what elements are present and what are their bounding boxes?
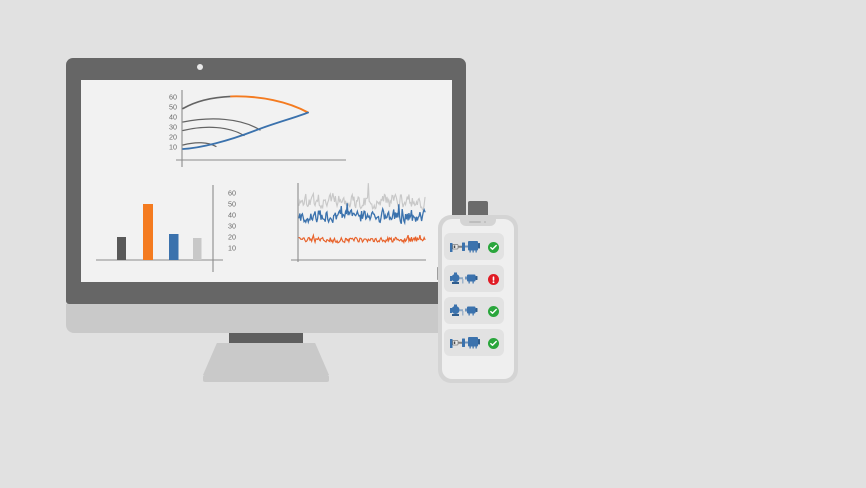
webcam-icon (197, 64, 203, 70)
check-circle-icon (488, 338, 499, 349)
bar-3 (193, 238, 202, 260)
monitor-stand-neck (229, 333, 303, 343)
status-badge (488, 274, 499, 285)
monitor-screen: 60 50 40 30 20 10 (81, 80, 452, 282)
bar-1 (143, 204, 153, 260)
pump-motor-icon (449, 270, 483, 287)
svg-text:10: 10 (228, 244, 236, 253)
check-circle-icon (488, 306, 499, 317)
mobile-device (438, 215, 518, 383)
svg-text:40: 40 (169, 113, 177, 122)
asset-card[interactable] (444, 297, 504, 324)
svg-text:10: 10 (169, 143, 177, 152)
asset-card[interactable] (444, 329, 504, 356)
status-badge (488, 338, 499, 349)
svg-text:60: 60 (169, 93, 177, 102)
svg-text:20: 20 (228, 233, 236, 242)
asset-card[interactable] (444, 265, 504, 292)
illustration-stage: 60 50 40 30 20 10 (0, 0, 866, 488)
monitor-stand-column (203, 343, 329, 375)
svg-text:50: 50 (169, 103, 177, 112)
arc-chart: 60 50 40 30 20 10 (156, 88, 371, 176)
monitor-stand-foot (203, 375, 329, 382)
asset-card[interactable] (444, 233, 504, 260)
alert-circle-icon (488, 274, 499, 285)
monitor-chin (66, 304, 466, 333)
check-circle-icon (488, 242, 499, 253)
bar-2 (169, 234, 179, 260)
bar-chart: 60 50 40 30 20 10 (91, 180, 251, 275)
status-badge (488, 306, 499, 317)
timeseries-chart (286, 180, 436, 275)
svg-text:30: 30 (228, 222, 236, 231)
phone-speaker-icon (469, 221, 481, 223)
motor-gearbox-icon (449, 238, 483, 255)
svg-text:50: 50 (228, 200, 236, 209)
pump-motor-icon (449, 302, 483, 319)
svg-text:20: 20 (169, 133, 177, 142)
phone-camera-icon (484, 221, 486, 223)
asset-card-list (444, 233, 504, 361)
svg-text:40: 40 (228, 211, 236, 220)
svg-text:60: 60 (228, 189, 236, 198)
status-badge (488, 242, 499, 253)
svg-text:30: 30 (169, 123, 177, 132)
motor-gearbox-icon (449, 334, 483, 351)
bar-0 (117, 237, 126, 260)
